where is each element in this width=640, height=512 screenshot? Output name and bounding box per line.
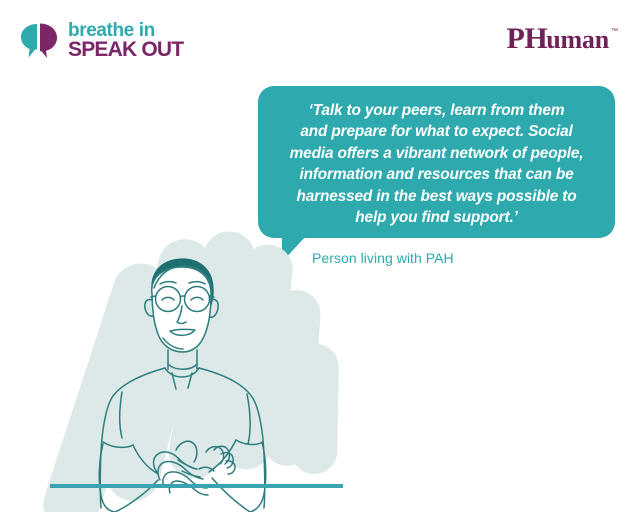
brand-logo: breathe in SPEAK OUT (18, 20, 238, 64)
phuman-uman-text: uman (546, 25, 609, 55)
person-illustration (0, 228, 360, 512)
trademark-symbol: ™ (611, 28, 618, 35)
ground-line (50, 484, 343, 488)
phuman-ph-text: PH (507, 24, 548, 54)
brand-wordmark: breathe in SPEAK OUT (68, 20, 238, 64)
brand-line-speak-out: SPEAK OUT (68, 39, 183, 61)
quote-text: ‘Talk to your peers, learn from them and… (290, 100, 584, 229)
quote-bubble: ‘Talk to your peers, learn from them and… (258, 86, 615, 238)
speech-bubbles-logo-mark (18, 22, 62, 60)
phuman-logo: PH uman ™ (507, 24, 618, 54)
